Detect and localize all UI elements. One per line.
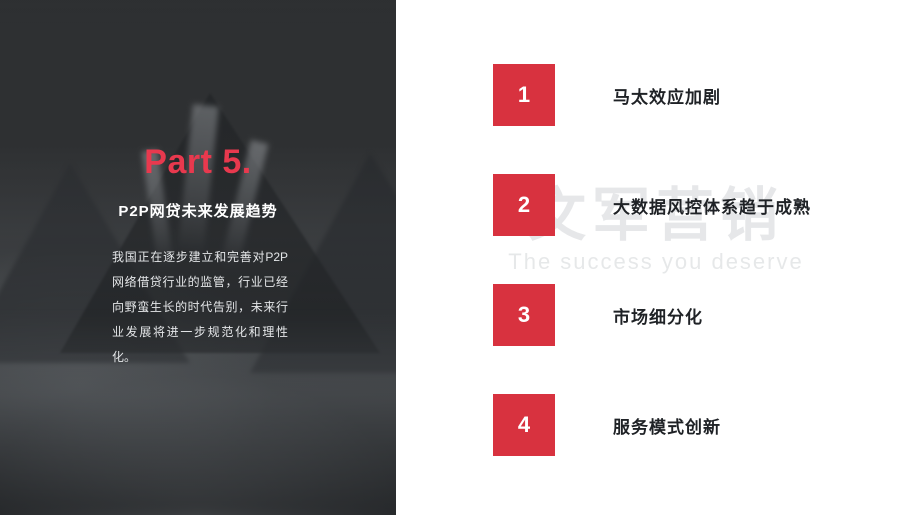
slide: Part 5. P2P网贷未来发展趋势 我国正在逐步建立和完善对P2P网络借贷行… bbox=[0, 0, 917, 515]
part-label: Part 5. bbox=[0, 143, 396, 182]
list-item-number-badge: 2 bbox=[493, 174, 555, 236]
list-item-number-badge: 1 bbox=[493, 64, 555, 126]
left-text-block: Part 5. P2P网贷未来发展趋势 我国正在逐步建立和完善对P2P网络借贷行… bbox=[0, 0, 396, 515]
list-item-label: 大数据风控体系趋于成熟 bbox=[613, 193, 811, 218]
list-item-label: 市场细分化 bbox=[613, 303, 703, 328]
section-title: P2P网贷未来发展趋势 bbox=[0, 200, 396, 221]
list-item-number-badge: 3 bbox=[493, 284, 555, 346]
list-item[interactable]: 2 大数据风控体系趋于成熟 bbox=[493, 174, 811, 236]
list-item[interactable]: 1 马太效应加剧 bbox=[493, 64, 721, 126]
list-item-number-badge: 4 bbox=[493, 394, 555, 456]
list-item-label: 马太效应加剧 bbox=[613, 83, 721, 108]
list-item[interactable]: 3 市场细分化 bbox=[493, 284, 703, 346]
list-item[interactable]: 4 服务模式创新 bbox=[493, 394, 721, 456]
section-body-text: 我国正在逐步建立和完善对P2P网络借贷行业的监管，行业已经向野蛮生长的时代告别，… bbox=[112, 245, 288, 370]
right-list-panel: 文军营销 The success you deserve 1 马太效应加剧 2 … bbox=[396, 0, 917, 515]
watermark-sub-text: The success you deserve bbox=[406, 247, 906, 277]
list-item-label: 服务模式创新 bbox=[613, 413, 721, 438]
left-image-panel: Part 5. P2P网贷未来发展趋势 我国正在逐步建立和完善对P2P网络借贷行… bbox=[0, 0, 396, 515]
